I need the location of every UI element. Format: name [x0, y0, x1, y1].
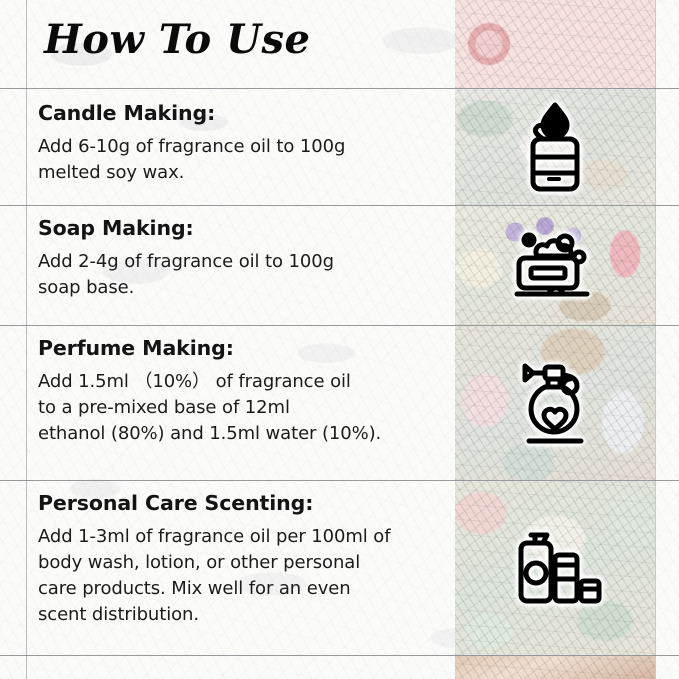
section-line: ethanol (80%) and 1.5ml water (10%).: [38, 421, 438, 447]
art-band-rose: [455, 0, 655, 88]
section-personal-care-scenting: Personal Care Scenting: Add 1-3ml of fra…: [38, 491, 438, 628]
section-line: body wash, lotion, or other personal: [38, 550, 438, 576]
right-vertical-rule: [655, 0, 656, 679]
how-to-use-infographic: How To Use Candle Making: Add 6-10g of f…: [0, 0, 679, 679]
section-line: soap base.: [38, 275, 438, 301]
section-line: Add 1.5ml （10%） of fragrance oil: [38, 369, 438, 395]
perfume-bottle-icon: [455, 326, 655, 480]
sketch-overlay: [455, 0, 655, 88]
personal-care-products-icon: [455, 481, 655, 655]
section-heading: Personal Care Scenting:: [38, 491, 438, 515]
section-soap-making: Soap Making: Add 2-4g of fragrance oil t…: [38, 216, 438, 301]
soap-bar-icon: [455, 206, 655, 325]
section-line: melted soy wax.: [38, 160, 438, 186]
art-band-bottom: [455, 656, 655, 679]
divider-below-personal-care: [0, 655, 679, 656]
sketch-overlay: [455, 656, 655, 679]
section-perfume-making: Perfume Making: Add 1.5ml （10%） of fragr…: [38, 336, 438, 447]
candle-icon: [455, 89, 655, 205]
section-heading: Candle Making:: [38, 101, 438, 125]
section-line: scent distribution.: [38, 602, 438, 628]
section-heading: Soap Making:: [38, 216, 438, 240]
section-line: to a pre-mixed base of 12ml: [38, 395, 438, 421]
section-line: care products. Mix well for an even: [38, 576, 438, 602]
section-candle-making: Candle Making: Add 6-10g of fragrance oi…: [38, 101, 438, 186]
section-heading: Perfume Making:: [38, 336, 438, 360]
section-line: Add 2-4g of fragrance oil to 100g: [38, 249, 438, 275]
page-title: How To Use: [44, 16, 310, 63]
section-line: Add 1-3ml of fragrance oil per 100ml of: [38, 524, 438, 550]
section-line: Add 6-10g of fragrance oil to 100g: [38, 134, 438, 160]
left-vertical-rule: [26, 0, 27, 679]
